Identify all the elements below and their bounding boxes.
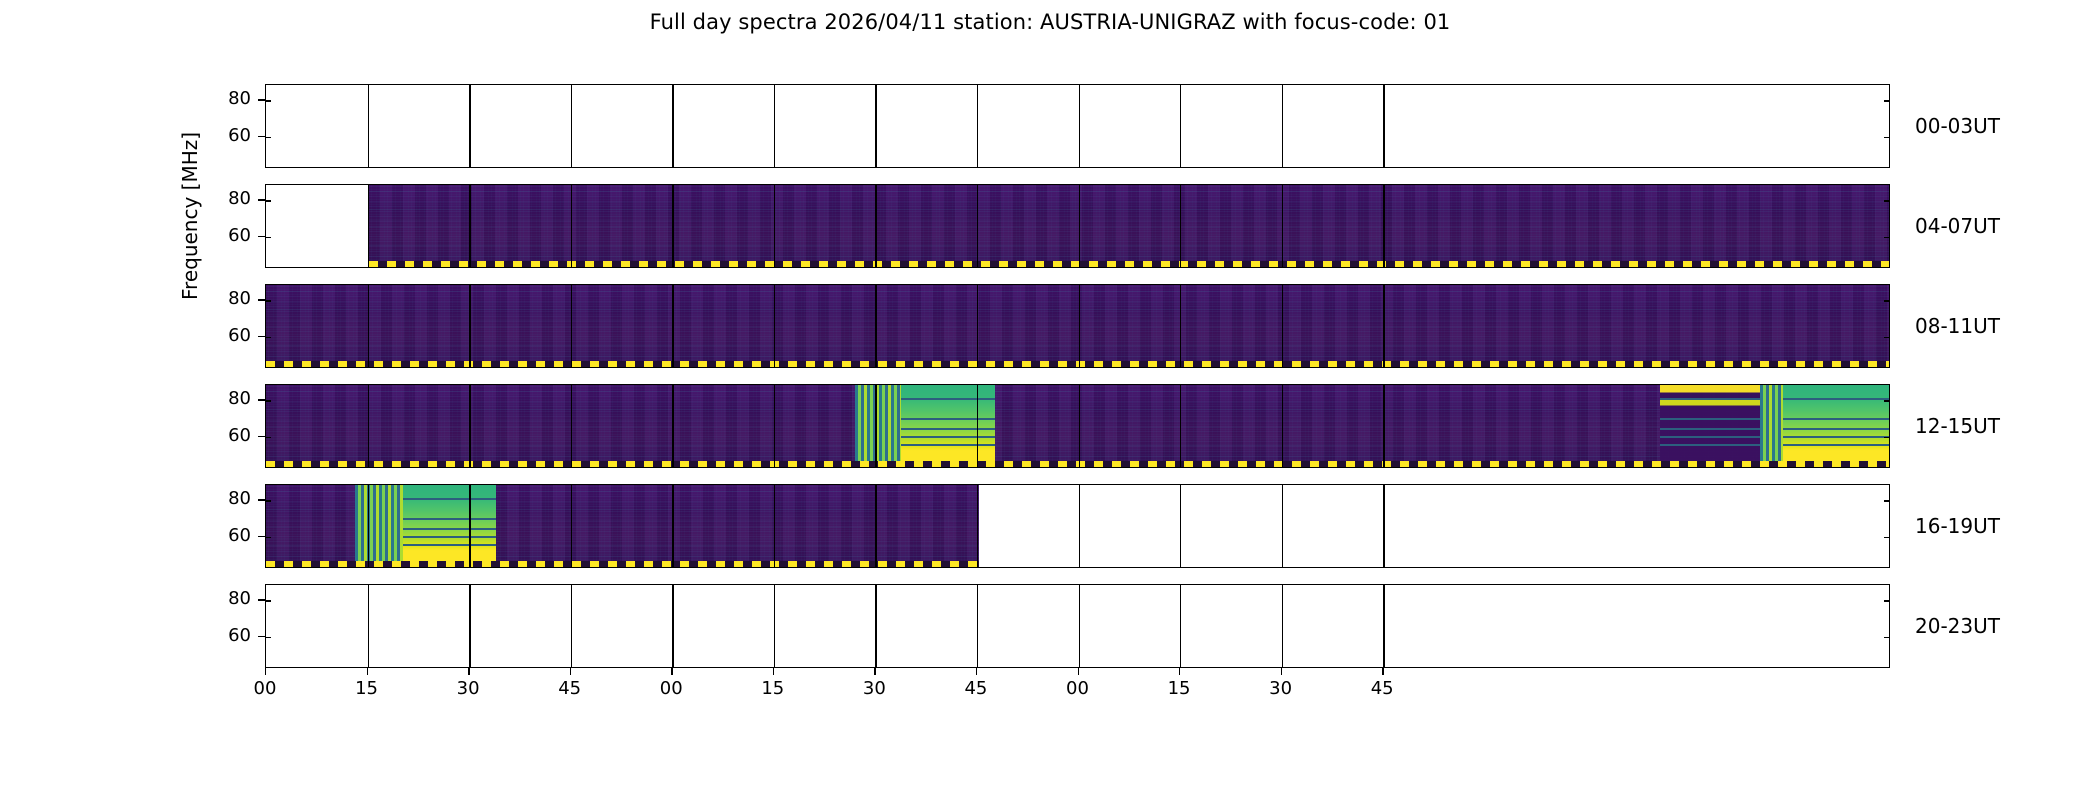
x-tick-mark: [976, 668, 977, 675]
x-tick-mark: [367, 668, 368, 675]
y-tick-stub: [266, 137, 271, 138]
x-tick-mark: [874, 668, 875, 675]
y-tick-label: 60: [205, 127, 251, 145]
page-title: Full day spectra 2026/04/11 station: AUS…: [0, 10, 2100, 34]
y-tick-mark: [258, 336, 265, 337]
y-tick-label: 80: [205, 290, 251, 308]
horizontal-streak-texture: [369, 185, 1890, 267]
panel-gridline: [1079, 485, 1080, 567]
panel-gridline: [571, 385, 572, 467]
y-tick-stub: [266, 637, 271, 638]
x-tick-label: 30: [443, 678, 493, 699]
y-tick-stub: [1884, 337, 1889, 338]
y-tick-mark: [258, 236, 265, 237]
x-tick-label: 30: [1256, 678, 1306, 699]
panel-gridline: [774, 485, 775, 567]
x-tick-label: 00: [1053, 678, 1103, 699]
panel-gridline: [1282, 85, 1283, 167]
y-tick-stub: [1884, 300, 1889, 301]
lowest-frequency-marker-strip: [369, 261, 1890, 267]
panel-gridline: [1383, 585, 1384, 667]
panel-gridline: [875, 185, 876, 267]
x-tick-label: 45: [951, 678, 1001, 699]
x-tick-mark: [671, 668, 672, 675]
y-tick-stub: [266, 300, 271, 301]
y-tick-label: 80: [205, 190, 251, 208]
panel-gridline: [1180, 385, 1181, 467]
panel-gridline: [368, 585, 369, 667]
y-tick-label: 60: [205, 527, 251, 545]
lowest-frequency-marker-strip: [266, 561, 979, 567]
panel-gridline: [1383, 385, 1384, 467]
y-tick-mark: [258, 499, 265, 500]
panel-gridline: [977, 185, 978, 267]
panel-gridline: [774, 285, 775, 367]
row-label-04-07ut: 04-07UT: [1915, 214, 2000, 238]
panel-gridline: [672, 85, 673, 167]
panel-gridline: [368, 285, 369, 367]
panel-gridline: [571, 285, 572, 367]
y-tick-stub: [266, 437, 271, 438]
row-label-12-15ut: 12-15UT: [1915, 414, 2000, 438]
panel-gridline: [774, 385, 775, 467]
y-tick-stub: [1884, 500, 1889, 501]
y-tick-mark: [258, 599, 265, 600]
panel-gridline: [571, 585, 572, 667]
spectrogram-panel-16-19ut[interactable]: [265, 484, 1890, 568]
y-tick-stub: [1884, 200, 1889, 201]
x-tick-label: 45: [1357, 678, 1407, 699]
y-tick-mark: [258, 436, 265, 437]
row-label-16-19ut: 16-19UT: [1915, 514, 2000, 538]
x-tick-mark: [468, 668, 469, 675]
panel-gridline: [368, 185, 369, 267]
y-axis-label-text: Frequency [MHz]: [178, 132, 202, 300]
row-label-08-11ut: 08-11UT: [1915, 314, 2000, 338]
panel-gridline: [469, 385, 470, 467]
panel-gridline: [1180, 185, 1181, 267]
panel-gridline: [1079, 585, 1080, 667]
panel-gridline: [774, 585, 775, 667]
panel-gridline: [1180, 85, 1181, 167]
panel-gridline: [1079, 385, 1080, 467]
panel-gridline: [672, 185, 673, 267]
panel-gridline: [774, 85, 775, 167]
row-label-20-23ut: 20-23UT: [1915, 614, 2000, 638]
y-tick-stub: [266, 400, 271, 401]
x-tick-mark: [1179, 668, 1180, 675]
panel-gridline: [368, 485, 369, 567]
panel-gridline: [1383, 485, 1384, 567]
radio-burst-region: [1760, 385, 1890, 467]
y-tick-mark: [258, 99, 265, 100]
spectrogram-data-region: [369, 185, 1890, 267]
panel-gridline: [571, 185, 572, 267]
panel-gridline: [672, 385, 673, 467]
panel-gridline: [368, 85, 369, 167]
panel-gridline: [774, 185, 775, 267]
y-tick-stub: [266, 100, 271, 101]
spectrogram-panel-20-23ut[interactable]: [265, 584, 1890, 668]
spectrogram-panel-04-07ut[interactable]: [265, 184, 1890, 268]
row-label-00-03ut: 00-03UT: [1915, 114, 2000, 138]
y-tick-stub: [1884, 400, 1889, 401]
y-tick-stub: [266, 537, 271, 538]
y-tick-stub: [266, 600, 271, 601]
panel-gridline: [1079, 285, 1080, 367]
y-tick-stub: [266, 337, 271, 338]
panel-gridline: [1282, 185, 1283, 267]
panel-gridline: [1383, 185, 1384, 267]
panel-gridline: [875, 585, 876, 667]
x-tick-label: 15: [342, 678, 392, 699]
x-tick-mark: [1281, 668, 1282, 675]
x-tick-label: 00: [646, 678, 696, 699]
burst-leading-stripes: [355, 485, 404, 567]
y-tick-label: 80: [205, 90, 251, 108]
y-tick-label: 80: [205, 590, 251, 608]
y-tick-stub: [1884, 237, 1889, 238]
panel-gridline: [1180, 585, 1181, 667]
radio-burst-region: [355, 485, 496, 567]
panel-gridline: [571, 85, 572, 167]
y-tick-stub: [266, 500, 271, 501]
panel-gridline: [875, 285, 876, 367]
panel-gridline: [368, 385, 369, 467]
panel-gridline: [672, 285, 673, 367]
y-tick-label: 60: [205, 427, 251, 445]
burst-leading-stripes: [855, 385, 901, 467]
y-tick-stub: [1884, 537, 1889, 538]
panel-gridline: [469, 185, 470, 267]
y-tick-stub: [1884, 600, 1889, 601]
burst-leading-stripes: [1760, 385, 1783, 467]
y-tick-stub: [1884, 137, 1889, 138]
y-tick-mark: [258, 636, 265, 637]
panel-gridline: [875, 385, 876, 467]
y-tick-stub: [266, 237, 271, 238]
panel-gridline: [672, 485, 673, 567]
panel-gridline: [1282, 485, 1283, 567]
x-tick-label: 00: [240, 678, 290, 699]
panel-gridline: [469, 85, 470, 167]
panel-gridline: [1383, 285, 1384, 367]
panel-gridline: [1383, 85, 1384, 167]
x-tick-label: 30: [849, 678, 899, 699]
y-axis-label: Frequency [MHz]: [178, 270, 202, 300]
panel-gridline: [469, 585, 470, 667]
panel-gridline: [977, 285, 978, 367]
burst-band-separators: [1660, 385, 1760, 467]
spectrogram-data-region: [266, 485, 979, 567]
y-tick-label: 80: [205, 490, 251, 508]
spectrogram-panel-12-15ut[interactable]: [265, 384, 1890, 468]
panel-gridline: [875, 85, 876, 167]
y-tick-label: 80: [205, 390, 251, 408]
y-tick-mark: [258, 136, 265, 137]
x-tick-label: 15: [1154, 678, 1204, 699]
panel-gridline: [977, 385, 978, 467]
y-tick-mark: [258, 299, 265, 300]
panel-gridline: [1282, 285, 1283, 367]
y-tick-mark: [258, 399, 265, 400]
radio-burst-region: [1660, 385, 1760, 467]
y-tick-stub: [1884, 437, 1889, 438]
panel-gridline: [571, 485, 572, 567]
y-tick-mark: [258, 536, 265, 537]
panel-gridline: [1079, 185, 1080, 267]
x-tick-mark: [1078, 668, 1079, 675]
y-tick-stub: [1884, 637, 1889, 638]
x-tick-mark: [773, 668, 774, 675]
panel-gridline: [1180, 285, 1181, 367]
panel-gridline: [1180, 485, 1181, 567]
spectrogram-panel-08-11ut[interactable]: [265, 284, 1890, 368]
x-tick-label: 15: [748, 678, 798, 699]
panel-gridline: [875, 485, 876, 567]
panel-gridline: [672, 585, 673, 667]
x-tick-label: 45: [545, 678, 595, 699]
panel-gridline: [469, 285, 470, 367]
panel-gridline: [1079, 85, 1080, 167]
spectrogram-panel-00-03ut[interactable]: [265, 84, 1890, 168]
panel-gridline: [977, 485, 978, 567]
panel-gridline: [1282, 385, 1283, 467]
x-tick-mark: [570, 668, 571, 675]
y-tick-label: 60: [205, 327, 251, 345]
y-tick-mark: [258, 199, 265, 200]
panel-gridline: [469, 485, 470, 567]
y-tick-stub: [266, 200, 271, 201]
panel-gridline: [977, 85, 978, 167]
x-tick-mark: [265, 668, 266, 675]
x-tick-mark: [1382, 668, 1383, 675]
y-tick-label: 60: [205, 627, 251, 645]
panel-gridline: [977, 585, 978, 667]
y-tick-label: 60: [205, 227, 251, 245]
panel-gridline: [1282, 585, 1283, 667]
spectrogram-figure: Full day spectra 2026/04/11 station: AUS…: [0, 0, 2100, 800]
y-tick-stub: [1884, 100, 1889, 101]
